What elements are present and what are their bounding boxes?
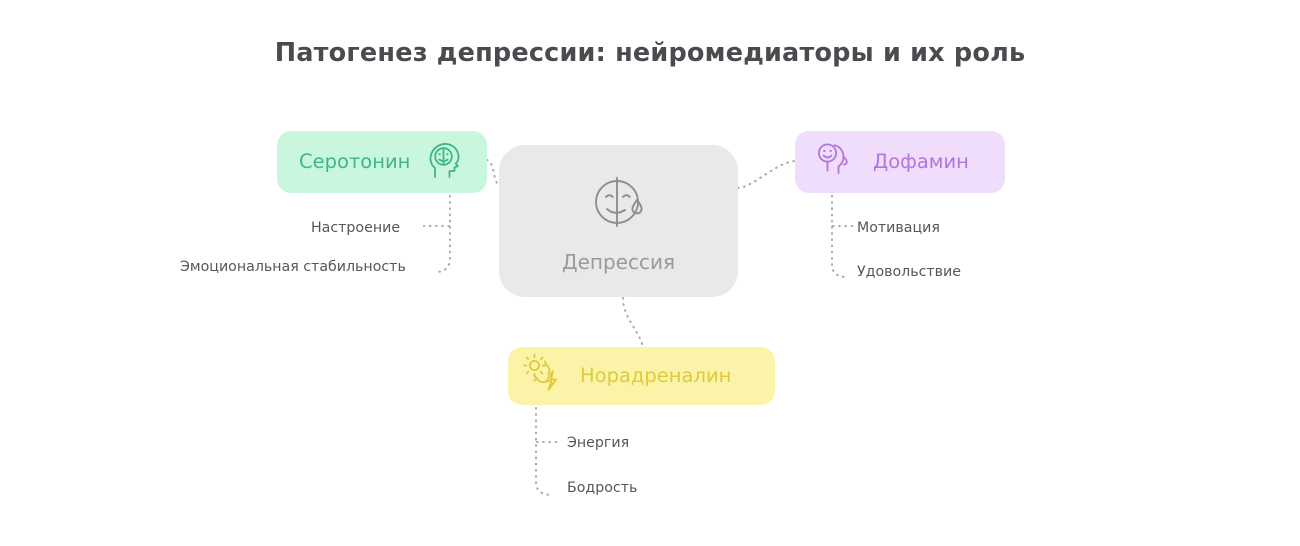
connector-dopamine-trunk xyxy=(832,196,847,277)
connector-serotonin-center xyxy=(487,160,499,187)
leaf-noradrenaline-vigour: Бодрость xyxy=(567,481,637,495)
connector-center-dopamine xyxy=(738,161,795,188)
node-dopamine[interactable]: Дофамин xyxy=(795,131,1005,193)
head-mind-face-icon xyxy=(427,140,465,184)
node-depression[interactable]: Депрессия xyxy=(499,145,738,297)
diagram-canvas: Патогенез депрессии: нейромедиаторы и их… xyxy=(0,0,1300,546)
half-sad-face-icon xyxy=(587,170,651,238)
node-dopamine-label: Дофамин xyxy=(873,152,969,172)
node-noradrenaline[interactable]: Норадреналин xyxy=(508,347,775,405)
connector-center-noradrenaline xyxy=(623,298,643,347)
leaf-noradrenaline-energy: Энергия xyxy=(567,436,629,450)
connector-serotonin-trunk xyxy=(436,196,450,272)
connector-noradrenaline-trunk xyxy=(536,408,552,495)
leaf-dopamine-pleasure: Удовольствие xyxy=(857,265,961,279)
node-serotonin[interactable]: Серотонин xyxy=(277,131,487,193)
head-smiley-icon xyxy=(815,140,855,184)
sun-lightning-icon xyxy=(522,353,564,399)
node-noradrenaline-label: Норадреналин xyxy=(580,366,731,386)
leaf-serotonin-stability: Эмоциональная стабильность xyxy=(180,260,406,274)
leaf-serotonin-mood: Настроение xyxy=(311,221,400,235)
node-depression-label: Депрессия xyxy=(562,252,675,272)
leaf-dopamine-motivation: Мотивация xyxy=(857,221,940,235)
node-serotonin-label: Серотонин xyxy=(299,152,410,172)
